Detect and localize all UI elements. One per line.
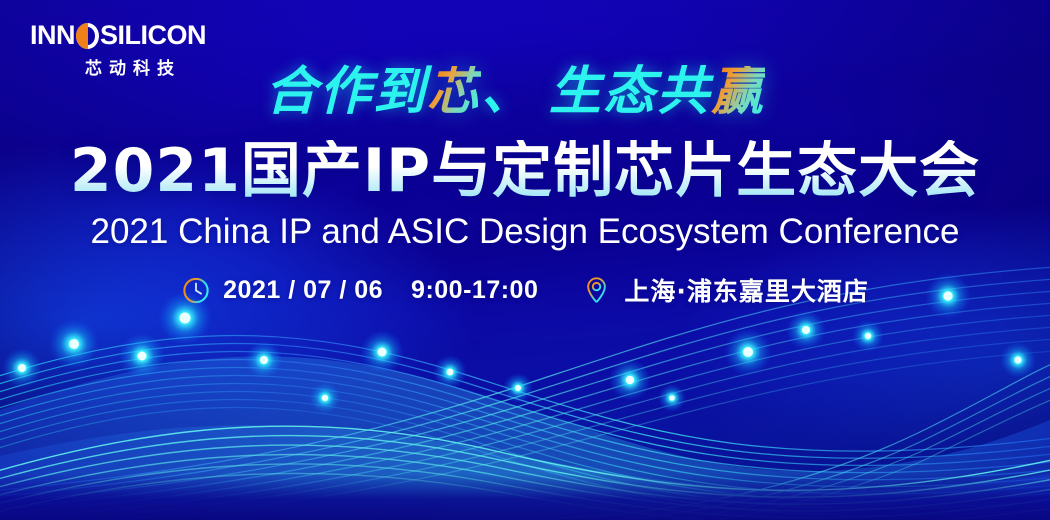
event-venue: 上海·浦东嘉里大酒店 bbox=[582, 272, 869, 308]
logo-word-part2: SILICON bbox=[100, 22, 206, 49]
clock-icon bbox=[181, 275, 211, 306]
event-datetime: 2021 / 07 / 06 9:00-17:00 bbox=[181, 275, 538, 306]
logo-word-part1: INN bbox=[30, 22, 75, 49]
tagline-segment-4: 生态共 bbox=[549, 66, 711, 118]
event-meta-row: 2021 / 07 / 06 9:00-17:00 bbox=[0, 272, 1050, 308]
tagline-segment-5: 赢 bbox=[711, 66, 765, 118]
tagline-separator: 、 bbox=[481, 66, 535, 118]
conference-banner: INN SILICON 芯动科技 合作到 芯 、 生态共 赢 2021国产IP与… bbox=[0, 0, 1050, 520]
main-title-chinese: 2021国产IP与定制芯片生态大会 bbox=[0, 140, 1050, 203]
event-venue-label: 上海·浦东嘉里大酒店 bbox=[624, 272, 869, 308]
company-logo: INN SILICON 芯动科技 bbox=[30, 22, 230, 79]
tagline-segment-2: 芯 bbox=[427, 66, 481, 118]
tagline-segment-1: 合作到 bbox=[265, 66, 427, 118]
logo-chinese-name: 芯动科技 bbox=[30, 54, 230, 79]
event-date-label: 2021 / 07 / 06 bbox=[223, 276, 383, 305]
main-title-english: 2021 China IP and ASIC Design Ecosystem … bbox=[0, 212, 1050, 252]
calligraphy-tagline: 合作到 芯 、 生态共 赢 bbox=[265, 46, 805, 138]
event-time-label: 9:00-17:00 bbox=[411, 276, 538, 305]
logo-wordmark: INN SILICON bbox=[30, 22, 230, 49]
location-pin-icon bbox=[582, 275, 612, 306]
logo-o-icon bbox=[76, 23, 99, 49]
